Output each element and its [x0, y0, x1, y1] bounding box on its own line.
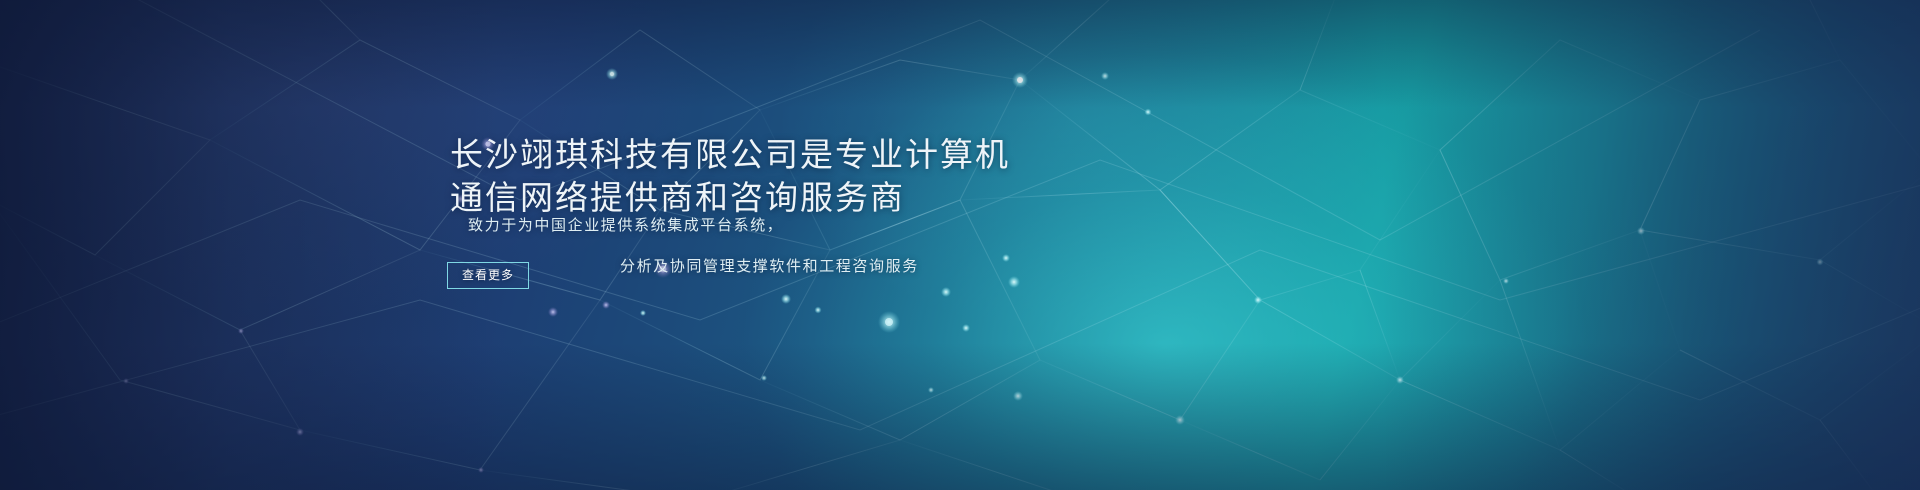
banner-content: 长沙翊琪科技有限公司是专业计算机 通信网络提供商和咨询服务商 致力于为中国企业提…	[0, 0, 1920, 490]
headline-line-1: 长沙翊琪科技有限公司是专业计算机	[450, 133, 1010, 176]
banner-subtitle-line-2: 分析及协同管理支撑软件和工程咨询服务	[620, 256, 919, 278]
view-more-button[interactable]: 查看更多	[447, 262, 529, 289]
hero-banner: 长沙翊琪科技有限公司是专业计算机 通信网络提供商和咨询服务商 致力于为中国企业提…	[0, 0, 1920, 490]
banner-subtitle-line-1: 致力于为中国企业提供系统集成平台系统，	[468, 215, 783, 237]
headline-line-2: 通信网络提供商和咨询服务商	[450, 176, 1010, 219]
banner-headline: 长沙翊琪科技有限公司是专业计算机 通信网络提供商和咨询服务商	[450, 133, 1010, 219]
